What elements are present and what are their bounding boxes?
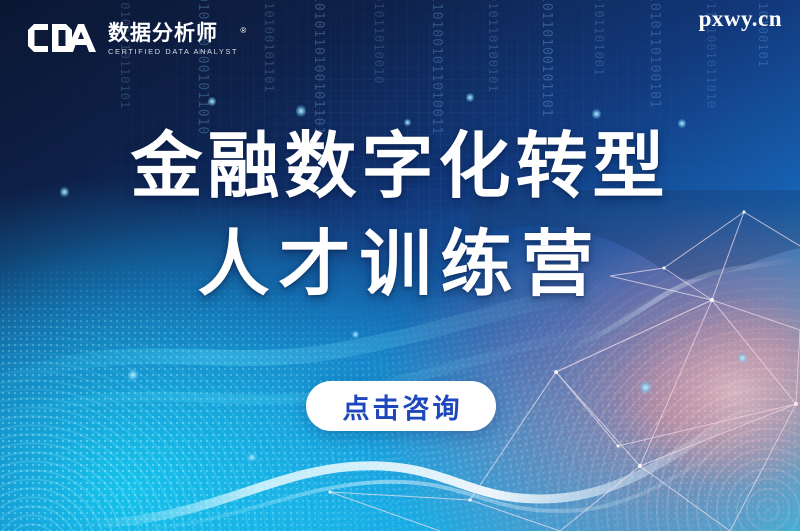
headline-line-2: 人才训练营 [0, 216, 800, 314]
headline-block: 金融数字化转型 人才训练营 [0, 118, 800, 314]
cda-logo: 数据分析师® CERTIFIED DATA ANALYST [26, 22, 238, 57]
cda-logo-wordmark: 数据分析师® CERTIFIED DATA ANALYST [108, 22, 238, 57]
consult-cta-button[interactable]: 点击咨询 [306, 381, 496, 431]
cda-brand-zh: 数据分析师® [108, 22, 238, 45]
promo-banner: 1010101011010101011010010110101101001011… [0, 0, 800, 531]
registered-mark-icon: ® [240, 19, 247, 42]
site-watermark: pxwy.cn [699, 6, 782, 32]
cda-brand-en: CERTIFIED DATA ANALYST [108, 46, 238, 57]
cda-logomark-icon [26, 22, 98, 52]
headline-line-1: 金融数字化转型 [0, 118, 800, 216]
